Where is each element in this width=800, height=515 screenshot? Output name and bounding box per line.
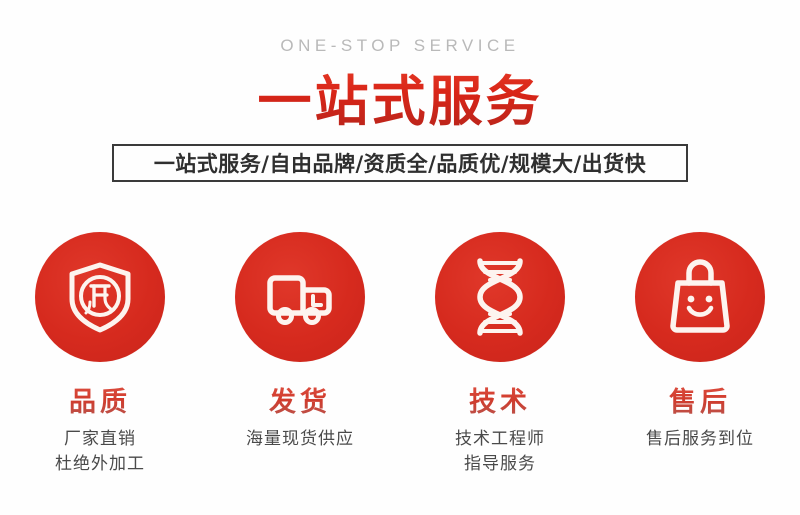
tagline-text: 一站式服务/自由品牌/资质全/品质优/规模大/出货快 [154,148,646,178]
feature-description: 厂家直销 杜绝外加工 [55,427,145,476]
feature-description: 海量现货供应 [246,427,354,452]
feature-icon-circle [235,232,365,362]
feature-item-delivery[interactable]: 发货 海量现货供应 [200,232,400,476]
feature-title: 发货 [269,380,331,419]
shield-quality-icon [61,258,139,336]
eyebrow-text: ONE-STOP SERVICE [0,36,800,56]
delivery-truck-icon [260,257,340,337]
feature-icon-circle [635,232,765,362]
feature-title: 品质 [69,380,131,419]
feature-title: 售后 [669,380,731,419]
tagline-box: 一站式服务/自由品牌/资质全/品质优/规模大/出货快 [112,144,688,182]
shopping-bag-smile-icon [664,256,736,338]
feature-item-quality[interactable]: 品质 厂家直销 杜绝外加工 [0,232,200,476]
feature-description: 技术工程师 指导服务 [455,427,545,476]
feature-icon-circle [35,232,165,362]
feature-description: 售后服务到位 [646,427,754,452]
feature-item-aftersales[interactable]: 售后 售后服务到位 [600,232,800,476]
feature-list: 品质 厂家直销 杜绝外加工 发货 海量现货供应 [0,232,800,476]
page-title: 一站式服务 [0,57,800,136]
feature-title: 技术 [469,380,531,419]
feature-icon-circle [435,232,565,362]
dna-helix-icon [464,255,536,339]
feature-item-technology[interactable]: 技术 技术工程师 指导服务 [400,232,600,476]
